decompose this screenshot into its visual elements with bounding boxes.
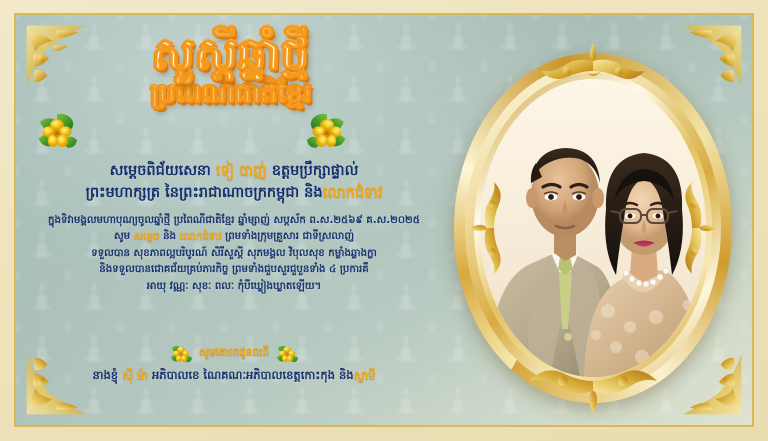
body-2-mid: និង [160, 231, 180, 242]
message-body: សម្តេចពិជ័យសេនា ទៀ បាញ់ ឧត្តមប្រឹក្សាផ្ទ… [32, 160, 436, 296]
lead-2-highlight: លោកជំទាវ [323, 185, 383, 201]
body-2-part-1: សូម [114, 231, 134, 242]
oval-scroll-ornament-icon [676, 180, 720, 276]
body-line-4: និងទទួលបានជោគជ័យគ្រប់ភារកិច្ច ព្រមទាំងជួ… [32, 262, 436, 279]
flower-icon [274, 342, 300, 364]
portrait-photo [480, 79, 706, 377]
closing-label: សូមគោរពជូនពរពី [199, 346, 269, 361]
couple-portrait-illustration [480, 79, 706, 377]
body-2-part-2: ព្រមទាំងក្រុមគ្រួសារ ជាទីស្រលាញ់ [222, 231, 354, 242]
lead-2-part-1: ព្រះមហាក្សត្រ នៃព្រះរាជាណាចក្រកម្ពុជា និ… [86, 185, 323, 201]
signature-part-1: នាងខ្ញុំ [93, 368, 123, 382]
page-subtitle: ប្រពៃណីជាតិខ្មែរ [36, 77, 426, 116]
flower-icon [304, 111, 350, 151]
headline-block: សួស្តីឆ្នាំថ្មី ប្រពៃណីជាតិខ្មែរ [36, 33, 426, 116]
signature-part-2: អភិបាលខេ ណៃគណៈអភិបាលខេត្តកោះកុង និង [148, 368, 354, 382]
oval-scroll-ornament-icon [533, 41, 653, 95]
signature-line: នាងខ្ញុំ ស៊ី ម៉ា អភិបាលខេ ណៃគណៈអភិបាលខេត… [32, 368, 436, 385]
body-line-3: ទទួលបាន សុខភាពល្អបរិបូរណ៍ សិរីសួស្តី សុភ… [32, 246, 436, 263]
oval-scroll-ornament-icon [523, 357, 663, 417]
signature-highlight-2: ស្វាមី [354, 368, 376, 382]
body-line-2: សូម សម្តេច និង លោកជំទាវ ព្រមទាំងក្រុមគ្រ… [32, 229, 436, 246]
page-title: សួស្តីឆ្នាំថ្មី [35, 33, 427, 76]
body-2-highlight-2: លោកជំទាវ [180, 231, 222, 242]
lead-1-part-2: ឧត្តមប្រឹក្សាផ្ទាល់ [267, 163, 359, 179]
signature-highlight-1: ស៊ី ម៉ា [122, 368, 148, 382]
flower-icon [34, 111, 80, 151]
flower-icon [168, 342, 194, 364]
closing-row: សូមគោរពជូនពរពី [32, 342, 436, 364]
body-line-5: អាយុ វណ្ណៈ សុខៈ ពលៈ កុំបីឃ្លៀងឃ្លាតឡើយ។ [32, 279, 436, 296]
lead-1-part-1: សម្តេចពិជ័យសេនា [110, 163, 216, 179]
lead-line-2: ព្រះមហាក្សត្រ នៃព្រះរាជាណាចក្រកម្ពុជា និ… [32, 182, 436, 204]
lead-1-highlight: ទៀ បាញ់ [216, 163, 267, 179]
body-line-1: ក្នុងទិវាមង្គលមហាបុណ្យចូលឆ្នាំថ្មី ប្រពៃ… [32, 213, 436, 230]
greeting-card: សួស្តីឆ្នាំថ្មី ប្រពៃណីជាតិខ្មែរ [0, 0, 768, 441]
body-paragraph: ក្នុងទិវាមង្គលមហាបុណ្យចូលឆ្នាំថ្មី ប្រពៃ… [32, 213, 436, 296]
lead-line-1: សម្តេចពិជ័យសេនា ទៀ បាញ់ ឧត្តមប្រឹក្សាផ្ទ… [32, 160, 436, 182]
portrait-frame [454, 53, 732, 403]
body-2-highlight-1: សម្តេច [134, 231, 160, 242]
card-inner-frame: សួស្តីឆ្នាំថ្មី ប្រពៃណីជាតិខ្មែរ [14, 13, 754, 427]
oval-scroll-ornament-icon [466, 180, 510, 276]
